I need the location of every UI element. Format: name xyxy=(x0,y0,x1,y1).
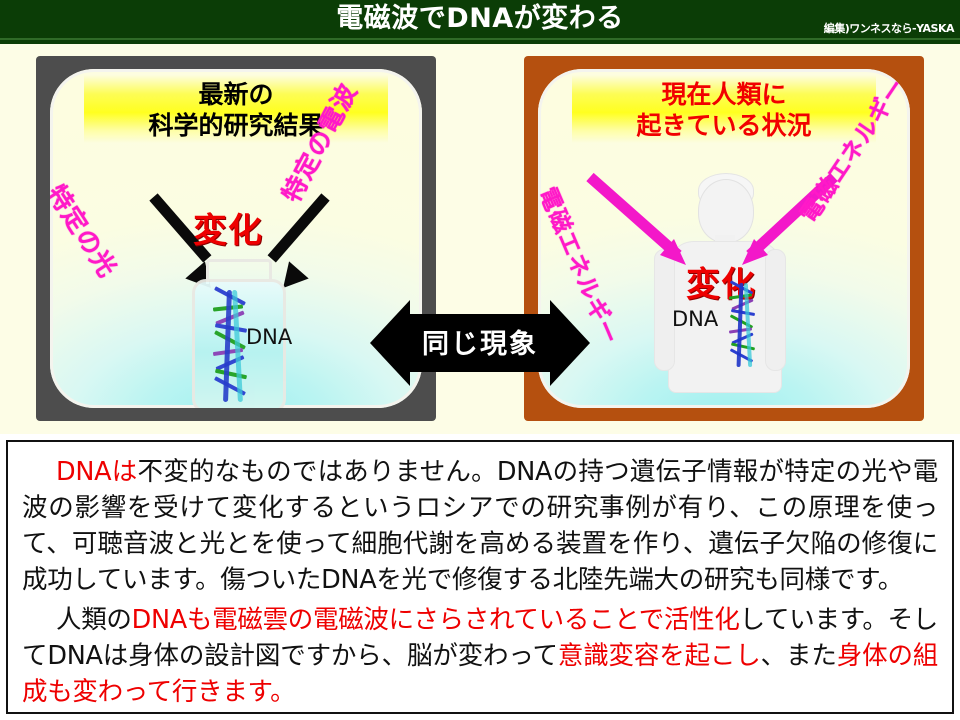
diagram-stage: 最新の 科学的研究結果 特定の光 特定の電波 変化 xyxy=(0,44,960,434)
label-specific-light: 特定の光 xyxy=(50,177,127,284)
paragraph-2: 人類のDNAも電磁雲の電磁波にさらされていることで活性化しています。そしてDNA… xyxy=(22,602,938,710)
paragraph-1-runs: DNAは不変的なものではありません。DNAの持つ遺伝子情報が特定の光や電波の影響… xyxy=(22,457,938,595)
title-divider xyxy=(0,38,960,40)
dna-label-body: DNA xyxy=(672,307,718,331)
paragraph-1: DNAは不変的なものではありません。DNAの持つ遺伝子情報が特定の光や電波の影響… xyxy=(22,454,938,598)
change-label-left: 変化 xyxy=(193,203,263,252)
slide-root: 電磁波でDNAが変わる 編集)ワンネスなら-YASKA 最新の 科学的研究結果 … xyxy=(0,0,960,720)
body-text-box: DNAは不変的なものではありません。DNAの持つ遺伝子情報が特定の光や電波の影響… xyxy=(6,440,954,714)
page-title: 電磁波でDNAが変わる xyxy=(0,2,960,36)
panel-right-inner: 現在人類に 起きている状況 xyxy=(538,69,910,408)
banner-left-line2: 科学的研究結果 xyxy=(50,104,422,141)
paragraph-2-runs: 人類のDNAも電磁雲の電磁波にさらされていることで活性化しています。そしてDNA… xyxy=(22,605,938,707)
same-phenomenon-label: 同じ現象 xyxy=(370,322,590,361)
same-phenomenon-arrow: 同じ現象 xyxy=(370,300,590,386)
dna-helix-bottle xyxy=(211,290,251,402)
dna-helix-body xyxy=(728,283,758,367)
credit-text: 編集)ワンネスなら-YASKA xyxy=(824,20,954,36)
panel-left-inner: 最新の 科学的研究結果 特定の光 特定の電波 変化 xyxy=(50,69,422,408)
dna-label-bottle: DNA xyxy=(246,325,292,349)
title-bar: 電磁波でDNAが変わる 編集)ワンネスなら-YASKA xyxy=(0,0,960,44)
